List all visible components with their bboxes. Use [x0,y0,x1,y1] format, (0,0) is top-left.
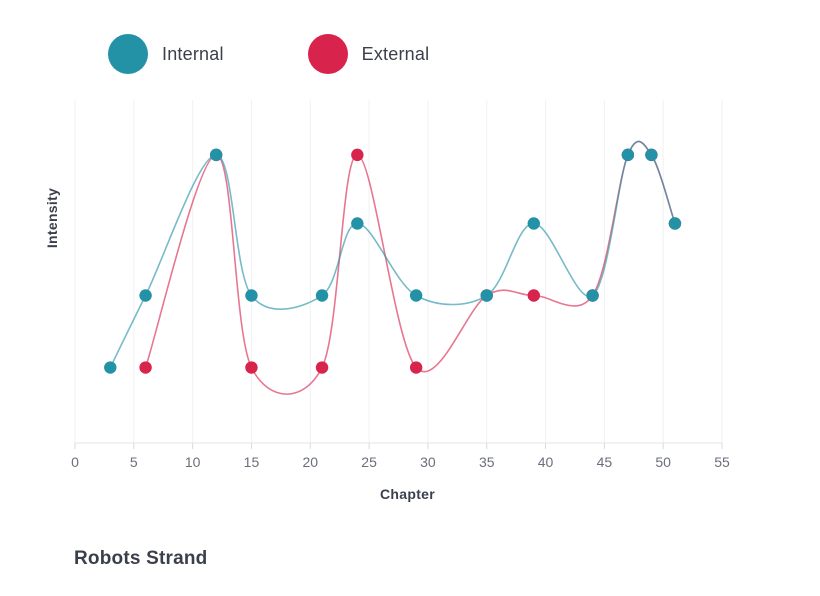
x-axis-tick-label: 25 [361,454,377,470]
data-point-internal[interactable] [586,289,598,301]
data-point-internal[interactable] [481,289,493,301]
x-axis-tick-label: 35 [479,454,495,470]
data-point-external[interactable] [316,361,328,373]
data-point-internal[interactable] [139,289,151,301]
data-point-external[interactable] [410,361,422,373]
x-axis-tick-label: 20 [302,454,318,470]
x-axis-tick-label: 55 [714,454,730,470]
plot-area: 0510152025303540455055 [0,0,820,470]
data-point-internal[interactable] [245,289,257,301]
data-point-internal[interactable] [104,361,116,373]
data-point-external[interactable] [351,149,363,161]
x-axis-title: Chapter [0,486,820,502]
data-point-internal[interactable] [351,217,363,229]
x-axis-tick-label: 0 [71,454,79,470]
series-line-internal [110,141,675,367]
data-point-internal[interactable] [316,289,328,301]
x-axis-tick-label: 5 [130,454,138,470]
x-axis-tick-label: 30 [420,454,436,470]
figure-caption: Robots Strand [74,548,208,570]
data-point-external[interactable] [245,361,257,373]
x-axis-tick-label: 50 [655,454,671,470]
data-point-internal[interactable] [622,149,634,161]
series-line-external [146,141,675,394]
data-point-external[interactable] [528,289,540,301]
data-point-internal[interactable] [410,289,422,301]
x-axis-tick-label: 45 [597,454,613,470]
x-axis-tick-label: 15 [244,454,260,470]
x-axis-tick-label: 10 [185,454,201,470]
data-point-internal[interactable] [210,149,222,161]
data-point-internal[interactable] [645,149,657,161]
data-point-external[interactable] [139,361,151,373]
y-axis-title: Intensity [44,158,60,278]
data-point-internal[interactable] [528,217,540,229]
x-axis-tick-label: 40 [538,454,554,470]
chart-figure: Internal External 0510152025303540455055… [0,0,820,596]
data-point-internal[interactable] [669,217,681,229]
